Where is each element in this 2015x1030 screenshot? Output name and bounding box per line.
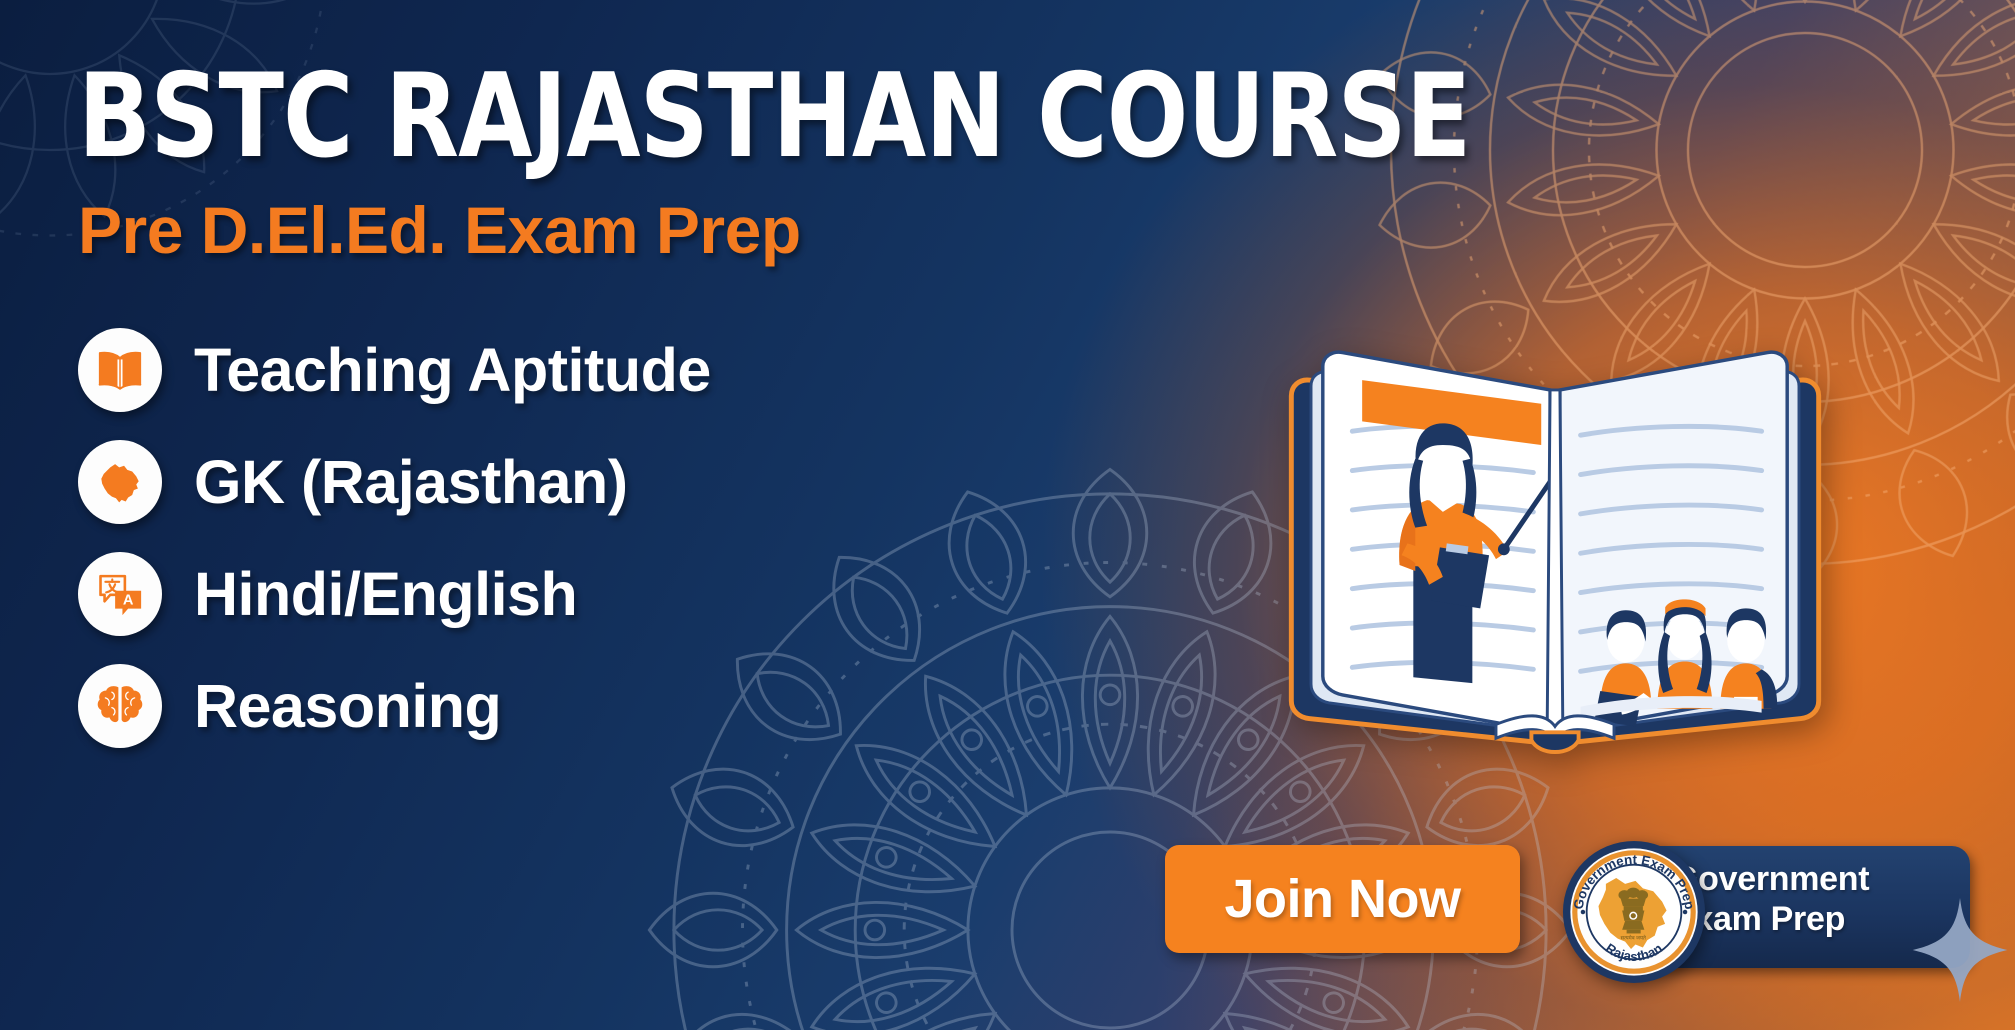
feature-icon-badge: A [78,552,162,636]
page-subtitle: Pre D.El.Ed. Exam Prep [78,192,1228,268]
rajasthan-map-icon [94,456,146,508]
banner-content: BSTC RAJASTHAN COURSE Pre D.El.Ed. Exam … [78,58,1228,762]
promotional-banner: BSTC RAJASTHAN COURSE Pre D.El.Ed. Exam … [0,0,2015,1030]
svg-text:सत्यमेव जयते: सत्यमेव जयते [1621,934,1647,941]
feature-icon-badge [78,664,162,748]
open-book-teacher-students-illustration [1250,300,1860,775]
brain-icon [94,680,146,732]
list-item: A Hindi/English [78,538,1228,650]
translate-icon: A [94,568,146,620]
list-item: Teaching Aptitude [78,314,1228,426]
feature-icon-badge [78,328,162,412]
feature-label: Hindi/English [194,559,577,629]
brand-logo[interactable]: Government Exam Prep [1560,838,2000,983]
government-exam-prep-seal: सत्यमेव जयते Government Exam Prep Rajast… [1560,838,1708,986]
open-book-icon [94,344,146,396]
list-item: Reasoning [78,650,1228,762]
svg-text:A: A [123,593,134,609]
feature-icon-badge [78,440,162,524]
feature-label: GK (Rajasthan) [194,447,628,517]
join-now-button[interactable]: Join Now [1165,845,1520,953]
feature-label: Reasoning [194,671,501,741]
feature-list: Teaching Aptitude GK (Rajasthan) [78,314,1228,762]
page-title: BSTC RAJASTHAN COURSE [78,58,1136,176]
feature-label: Teaching Aptitude [194,335,711,405]
sparkle-icon [1912,898,2008,1002]
list-item: GK (Rajasthan) [78,426,1228,538]
